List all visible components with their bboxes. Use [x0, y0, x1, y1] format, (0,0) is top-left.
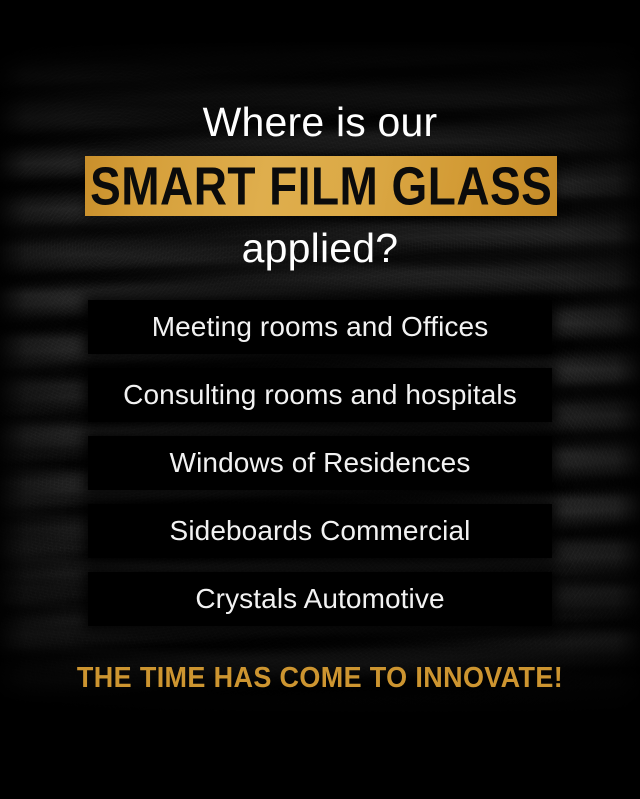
call-to-action-tagline: THE TIME HAS COME TO INNOVATE! [22, 664, 617, 693]
list-item: Sideboards Commercial [88, 504, 552, 558]
list-item: Crystals Automotive [88, 572, 552, 626]
list-item: Consulting rooms and hospitals [88, 368, 552, 422]
list-item-label: Sideboards Commercial [170, 517, 471, 545]
smart-film-glass-banner: SMART FILM GLASS [85, 156, 557, 216]
headline-line-bottom: applied? [0, 228, 640, 269]
list-item-label: Consulting rooms and hospitals [123, 381, 517, 409]
poster-content: Where is our SMART FILM GLASS applied? M… [0, 0, 640, 799]
application-list: Meeting rooms and Offices Consulting roo… [88, 300, 552, 640]
list-item: Meeting rooms and Offices [88, 300, 552, 354]
banner-title: SMART FILM GLASS [90, 159, 552, 213]
list-item-label: Meeting rooms and Offices [152, 313, 489, 341]
poster-canvas: Where is our SMART FILM GLASS applied? M… [0, 0, 640, 799]
list-item: Windows of Residences [88, 436, 552, 490]
list-item-label: Crystals Automotive [195, 585, 444, 613]
headline-line-top: Where is our [0, 102, 640, 143]
list-item-label: Windows of Residences [170, 449, 471, 477]
